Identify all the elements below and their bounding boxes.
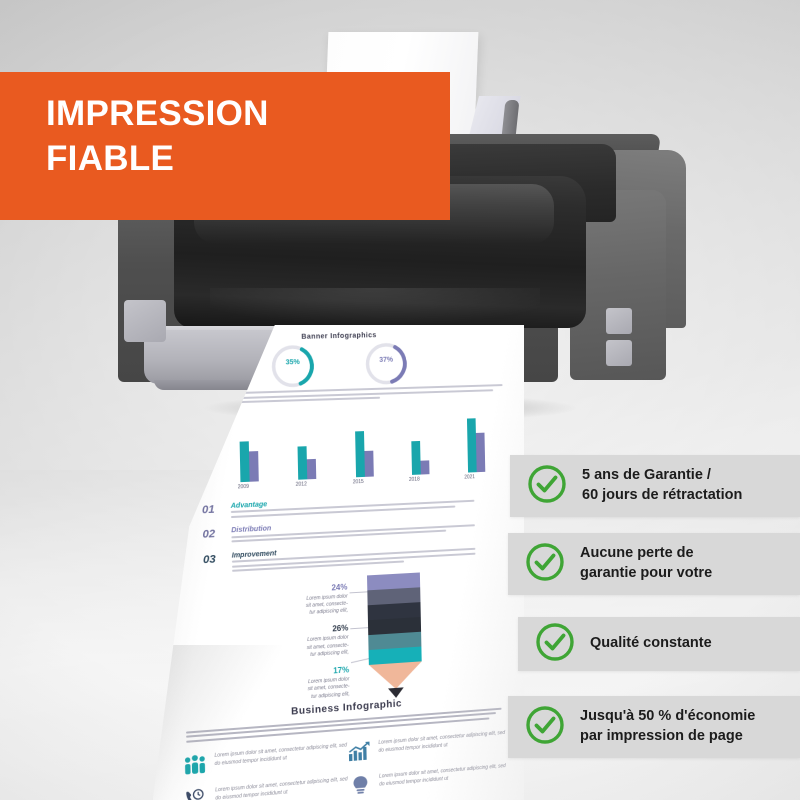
step-number: 01 — [202, 503, 223, 516]
control-button-2[interactable] — [606, 340, 632, 366]
printer-drum-lower-light — [210, 288, 540, 326]
power-button[interactable] — [124, 300, 166, 342]
check-circle-icon — [534, 621, 576, 668]
headline-banner: IMPRESSION FIABLE — [0, 72, 450, 220]
paper-curl-shadow — [152, 645, 282, 800]
check-circle-icon — [526, 463, 568, 510]
headline-line-1: IMPRESSION — [46, 92, 269, 137]
x-tick-label: 2009 — [236, 482, 279, 490]
numbered-steps-list: 01 Advantage 02 Distribution — [202, 491, 476, 576]
page-title: IMPRESSION FIABLE — [46, 92, 269, 182]
donut-chart-1: 35% — [266, 350, 319, 382]
bar-step-01 — [412, 440, 421, 474]
bar-step-01 — [355, 431, 365, 477]
list-item: Lorem ipsum dolor sit amet, consectetur … — [348, 730, 506, 762]
feature-label-4: Jusqu'à 50 % d'économie par impression d… — [580, 707, 769, 746]
feature-item-3[interactable]: Qualité constante — [518, 617, 800, 671]
headline-line-2: FIABLE — [46, 137, 269, 182]
bar-step-02 — [476, 432, 485, 472]
feature-label-3: Qualité constante — [590, 634, 726, 654]
donut-value-2: 37% — [360, 356, 411, 364]
donut-chart-2: 37% — [360, 348, 412, 379]
feature-item-4[interactable]: Jusqu'à 50 % d'économie par impression d… — [508, 696, 800, 758]
lightbulb-icon — [348, 774, 372, 796]
bar-group — [293, 422, 334, 480]
list-item: 24% Lorem ipsum dolor sit amet, consecte… — [195, 582, 348, 624]
bar-step-01 — [239, 441, 249, 482]
feature-label-1: 5 ans de Garantie / 60 jours de rétracta… — [582, 466, 756, 505]
step-number: 02 — [202, 528, 223, 541]
donut-value-1: 35% — [266, 359, 319, 367]
bar-group — [463, 416, 502, 472]
control-button-1[interactable] — [606, 308, 632, 334]
feature-label-2: Aucune perte de garantie pour votre — [580, 544, 726, 583]
bar-step-01 — [467, 418, 477, 472]
bar-step-02 — [249, 451, 259, 482]
step-number: 03 — [203, 552, 224, 565]
feature-item-2[interactable]: Aucune perte de garantie pour votre — [508, 533, 800, 595]
list-item: Lorem ipsum dolor sit amet, consectetur … — [348, 763, 506, 796]
bar-step-02 — [364, 450, 373, 476]
bar-step-01 — [298, 446, 308, 480]
icon-item-text-2: Lorem ipsum dolor sit amet, consectetur … — [378, 730, 506, 755]
feature-item-1[interactable]: 5 ans de Garantie / 60 jours de rétracta… — [510, 455, 800, 517]
icon-item-text-4: Lorem ipsum dolor sit amet, consectetur … — [379, 763, 507, 789]
pencil-graphic — [367, 572, 422, 699]
check-circle-icon — [524, 541, 566, 588]
bar-step-02 — [307, 458, 316, 478]
x-tick-label: 2021 — [462, 473, 502, 481]
x-tick-label: 2015 — [351, 477, 392, 485]
bar-group — [235, 424, 277, 482]
poster-canvas: Banner Infographics 35% — [0, 0, 800, 800]
x-tick-label: 2012 — [294, 480, 336, 488]
x-tick-label: 2018 — [407, 475, 448, 483]
bar-group — [351, 420, 392, 477]
pencil-tip-icon — [369, 661, 422, 690]
check-circle-icon — [524, 704, 566, 751]
growth-chart-icon — [348, 741, 372, 763]
bar-group — [407, 418, 447, 475]
bar-step-02 — [421, 460, 430, 474]
pencil-lead-icon — [388, 687, 404, 698]
